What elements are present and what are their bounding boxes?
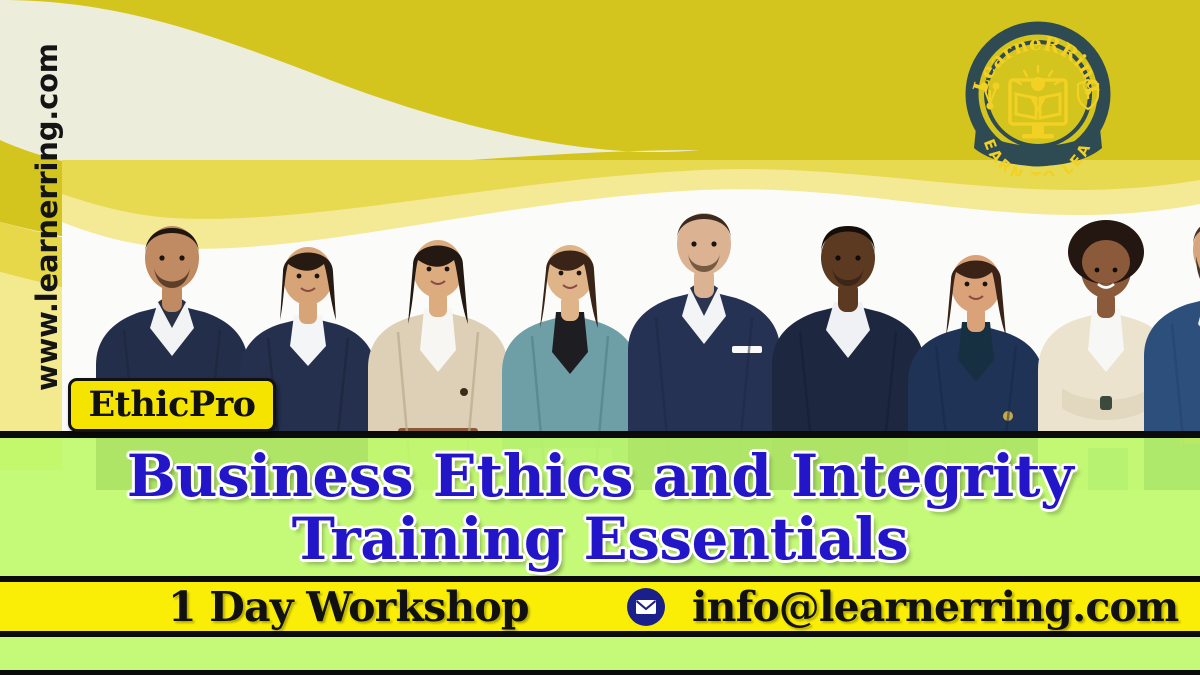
ethicpro-badge: EthicPro	[68, 378, 276, 432]
learnerring-logo: LearneRRing	[962, 18, 1114, 176]
title-line-2: Training Essentials	[292, 510, 908, 568]
pocket-square	[732, 346, 762, 353]
info-bar: 1 Day Workshop info@learnerring.com	[0, 576, 1200, 637]
workshop-duration-label: 1 Day Workshop	[168, 583, 529, 631]
website-url-vertical: www.learnerring.com	[26, 61, 68, 391]
contact-email-label: info@learnerring.com	[692, 583, 1178, 631]
envelope-icon	[626, 587, 666, 627]
promo-banner: www.learnerring.com LearneRRing	[0, 0, 1200, 675]
bottom-green-strip	[0, 637, 1200, 675]
title-band: Business Ethics and Integrity Training E…	[0, 431, 1200, 576]
title-line-1: Business Ethics and Integrity	[127, 447, 1073, 505]
ethicpro-label: EthicPro	[88, 387, 255, 422]
